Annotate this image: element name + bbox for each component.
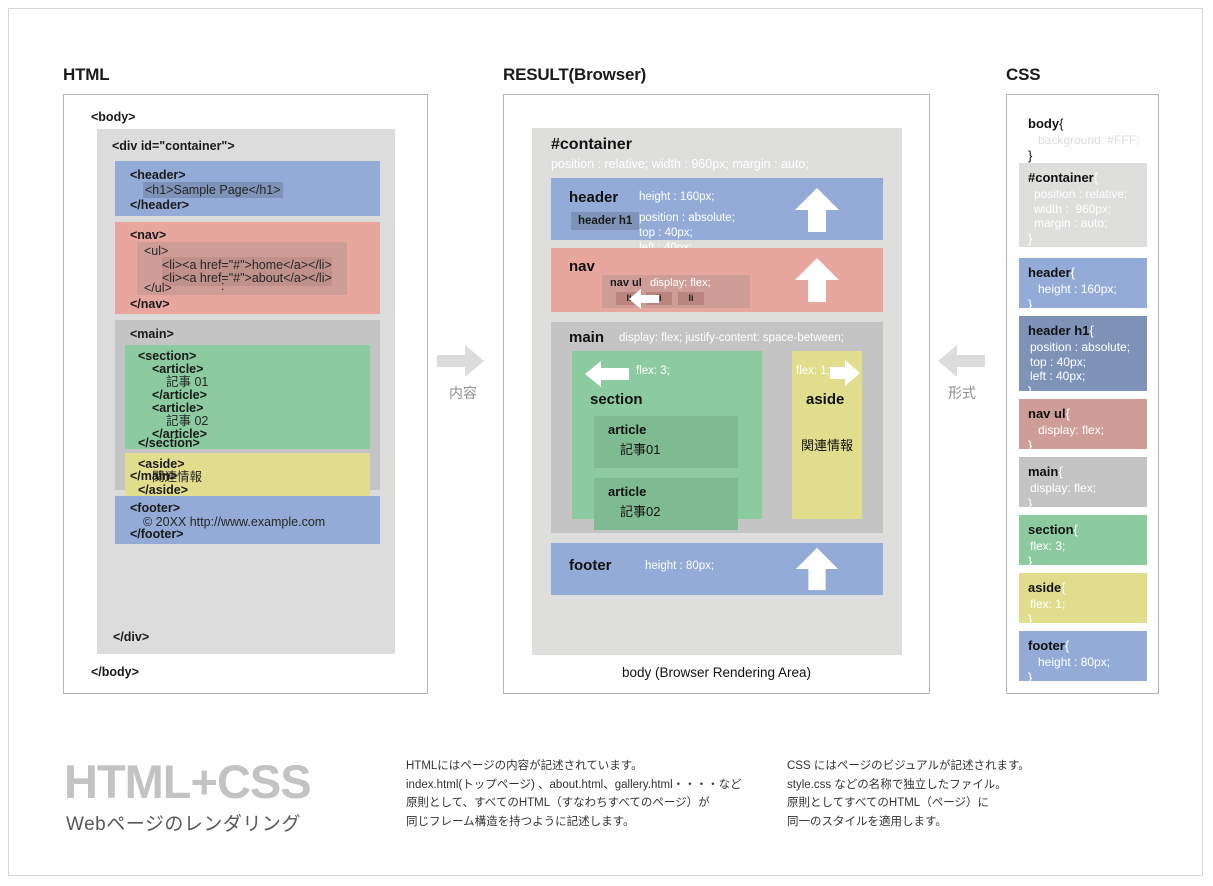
css-declarations: height : 80px;	[1028, 655, 1147, 670]
render-article-2: article 記事02	[594, 478, 738, 530]
css-declarations: flex: 1;	[1028, 597, 1147, 612]
render-main-props: display: flex; justify-content: space-be…	[619, 332, 844, 344]
code-nav-close: </nav>	[130, 296, 170, 312]
render-footer-block: footer height : 80px;	[551, 543, 883, 595]
arrow-up-icon	[794, 256, 840, 304]
css-declarations: background: #FFF;	[1028, 133, 1147, 148]
code-main-open: <main>	[130, 326, 174, 342]
render-article-1: article 記事01	[594, 416, 738, 468]
diagram-frame: HTML <body> <div id="container"> <header…	[8, 8, 1203, 876]
code-section-block: <section> <article> 記事 01 </article> <ar…	[125, 345, 370, 449]
code-container-block: <div id="container"> <header> <h1>Sample…	[97, 129, 395, 654]
css-open-brace: {	[1071, 265, 1075, 280]
css-close-brace: }	[1028, 148, 1147, 163]
code-footer-block: <footer> © 20XX http://www.example.com <…	[115, 496, 380, 544]
arrow-right-icon	[829, 359, 861, 387]
code-section-close: </section>	[138, 435, 200, 451]
css-open-brace: {	[1074, 522, 1078, 537]
render-aside-text: 関連情報	[798, 435, 856, 454]
css-selector: body	[1028, 116, 1059, 131]
css-selector: footer	[1028, 638, 1065, 653]
css-close-brace: }	[1028, 438, 1147, 453]
render-aside-label: aside	[806, 391, 844, 408]
code-container-close: </div>	[113, 629, 149, 645]
code-body-close: </body>	[91, 664, 139, 680]
code-header-close: </header>	[130, 197, 189, 213]
css-open-brace: {	[1059, 116, 1063, 131]
render-section-block: flex: 3; section article 記事01 article 記事…	[572, 351, 762, 519]
css-open-brace: {	[1058, 464, 1062, 479]
css-open-brace: {	[1094, 170, 1098, 185]
render-nav-li-3: li	[678, 292, 704, 305]
arrow-right-icon	[437, 344, 485, 378]
arrow-left-icon	[628, 287, 660, 311]
css-rule-aside: aside{ flex: 1; }	[1019, 573, 1147, 623]
css-rule-body: body{ background: #FFF; }	[1019, 109, 1147, 167]
html-panel-title: HTML	[63, 65, 109, 85]
css-rule-section: section{ flex: 3; }	[1019, 515, 1147, 565]
result-panel-title: RESULT(Browser)	[503, 65, 646, 85]
render-section-flex: flex: 3;	[636, 365, 670, 377]
render-article-2-label: article	[608, 484, 646, 499]
css-selector: header h1	[1028, 323, 1089, 338]
render-container-label: #container	[551, 136, 632, 154]
css-close-brace: }	[1028, 670, 1147, 685]
render-body-caption: body (Browser Rendering Area)	[504, 665, 929, 680]
render-nav-label: nav	[569, 258, 595, 275]
render-header-height: height : 160px;	[639, 191, 714, 203]
css-selector: main	[1028, 464, 1058, 479]
css-close-brace: }	[1028, 384, 1147, 399]
css-rule-header: header{ height : 160px; }	[1019, 258, 1147, 308]
css-open-brace: {	[1089, 323, 1093, 338]
css-description-text: CSS にはページのビジュアルが記述されます。 style.css などの名称で…	[787, 757, 1030, 832]
page-title: HTML+CSS	[64, 754, 311, 809]
css-declarations: position : relative; width : 960px; marg…	[1028, 187, 1147, 231]
render-article-1-label: article	[608, 422, 646, 437]
css-rules-panel: body{ background: #FFF; } #container{ po…	[1006, 94, 1159, 694]
css-declarations: flex: 3;	[1028, 539, 1147, 554]
render-main-block: main display: flex; justify-content: spa…	[551, 322, 883, 533]
render-container-block: #container position : relative; width : …	[532, 128, 902, 655]
code-header-block: <header> <h1>Sample Page</h1> </header>	[115, 161, 380, 216]
render-aside-block: flex: 1; aside 関連情報	[792, 351, 862, 519]
arrow-up-icon	[794, 186, 840, 234]
render-footer-height: height : 80px;	[645, 560, 714, 572]
flow-right-label: 形式	[948, 383, 976, 403]
render-header-h1-chip: header h1	[571, 212, 639, 230]
arrow-left-icon	[584, 359, 630, 389]
css-selector: section	[1028, 522, 1074, 537]
render-aside-flex: flex: 1;	[796, 365, 830, 377]
css-rule-container: #container{ position : relative; width :…	[1019, 163, 1147, 247]
code-ul-close: </ul>	[144, 280, 172, 296]
code-nav-open: <nav>	[130, 227, 166, 243]
code-header-open: <header>	[130, 167, 186, 183]
render-footer-label: footer	[569, 557, 612, 574]
css-rule-footer: footer{ height : 80px; }	[1019, 631, 1147, 681]
code-main-close: </main>	[130, 468, 177, 484]
code-footer-close: </footer>	[130, 526, 184, 542]
page-subtitle: Webページのレンダリング	[66, 809, 301, 836]
result-browser-panel: #container position : relative; width : …	[503, 94, 930, 694]
render-main-label: main	[569, 329, 604, 346]
html-code-panel: <body> <div id="container"> <header> <h1…	[63, 94, 428, 694]
render-container-props: position : relative; width : 960px; marg…	[551, 157, 809, 171]
css-close-brace: }	[1028, 612, 1147, 627]
flow-left-label: 内容	[449, 383, 477, 403]
css-close-brace: }	[1028, 231, 1147, 246]
render-section-label: section	[590, 391, 643, 408]
render-header-block: header height : 160px; header h1 positio…	[551, 178, 883, 240]
css-selector: aside	[1028, 580, 1061, 595]
html-description-text: HTMLにはページの内容が記述されています。 index.html(トップページ…	[406, 757, 742, 832]
code-body-open: <body>	[91, 109, 135, 125]
css-declarations: display: flex;	[1028, 423, 1147, 438]
css-selector: #container	[1028, 170, 1094, 185]
css-close-brace: }	[1028, 554, 1147, 569]
code-li-about: <li><a href="#">about</a></li>	[162, 270, 332, 286]
css-open-brace: {	[1066, 406, 1070, 421]
css-declarations: position : absolute; top : 40px; left : …	[1028, 340, 1147, 384]
css-open-brace: {	[1065, 638, 1069, 653]
css-panel-title: CSS	[1006, 65, 1040, 85]
arrow-left-icon	[937, 344, 985, 378]
render-nav-block: nav nav ul display: flex; li li li	[551, 248, 883, 312]
css-declarations: height : 160px;	[1028, 282, 1147, 297]
render-nav-ul-block: nav ul display: flex; li li li	[602, 275, 750, 308]
css-rule-main: main{ display: flex; }	[1019, 457, 1147, 507]
css-selector: nav ul	[1028, 406, 1066, 421]
render-article-2-text: 記事02	[620, 501, 660, 520]
css-declarations: display: flex;	[1028, 481, 1147, 496]
code-header-h1: <h1>Sample Page</h1>	[143, 182, 283, 198]
render-header-label: header	[569, 189, 618, 206]
arrow-up-icon	[794, 546, 840, 592]
code-nav-ul-block: <ul> <li><a href="#">home</a></li> <li><…	[137, 242, 347, 295]
css-close-brace: }	[1028, 496, 1147, 511]
css-open-brace: {	[1061, 580, 1065, 595]
css-selector: header	[1028, 265, 1071, 280]
code-nav-block: <nav> <ul> <li><a href="#">home</a></li>…	[115, 222, 380, 314]
css-rule-nav-ul: nav ul{ display: flex; }	[1019, 399, 1147, 449]
code-main-block: <main> <section> <article> 記事 01 </artic…	[115, 320, 380, 490]
code-container-open: <div id="container">	[112, 138, 235, 154]
render-article-1-text: 記事01	[620, 439, 660, 458]
code-li-ellipsis: :	[221, 278, 224, 294]
css-rule-header-h1: header h1{ position : absolute; top : 40…	[1019, 316, 1147, 391]
css-close-brace: }	[1028, 297, 1147, 312]
